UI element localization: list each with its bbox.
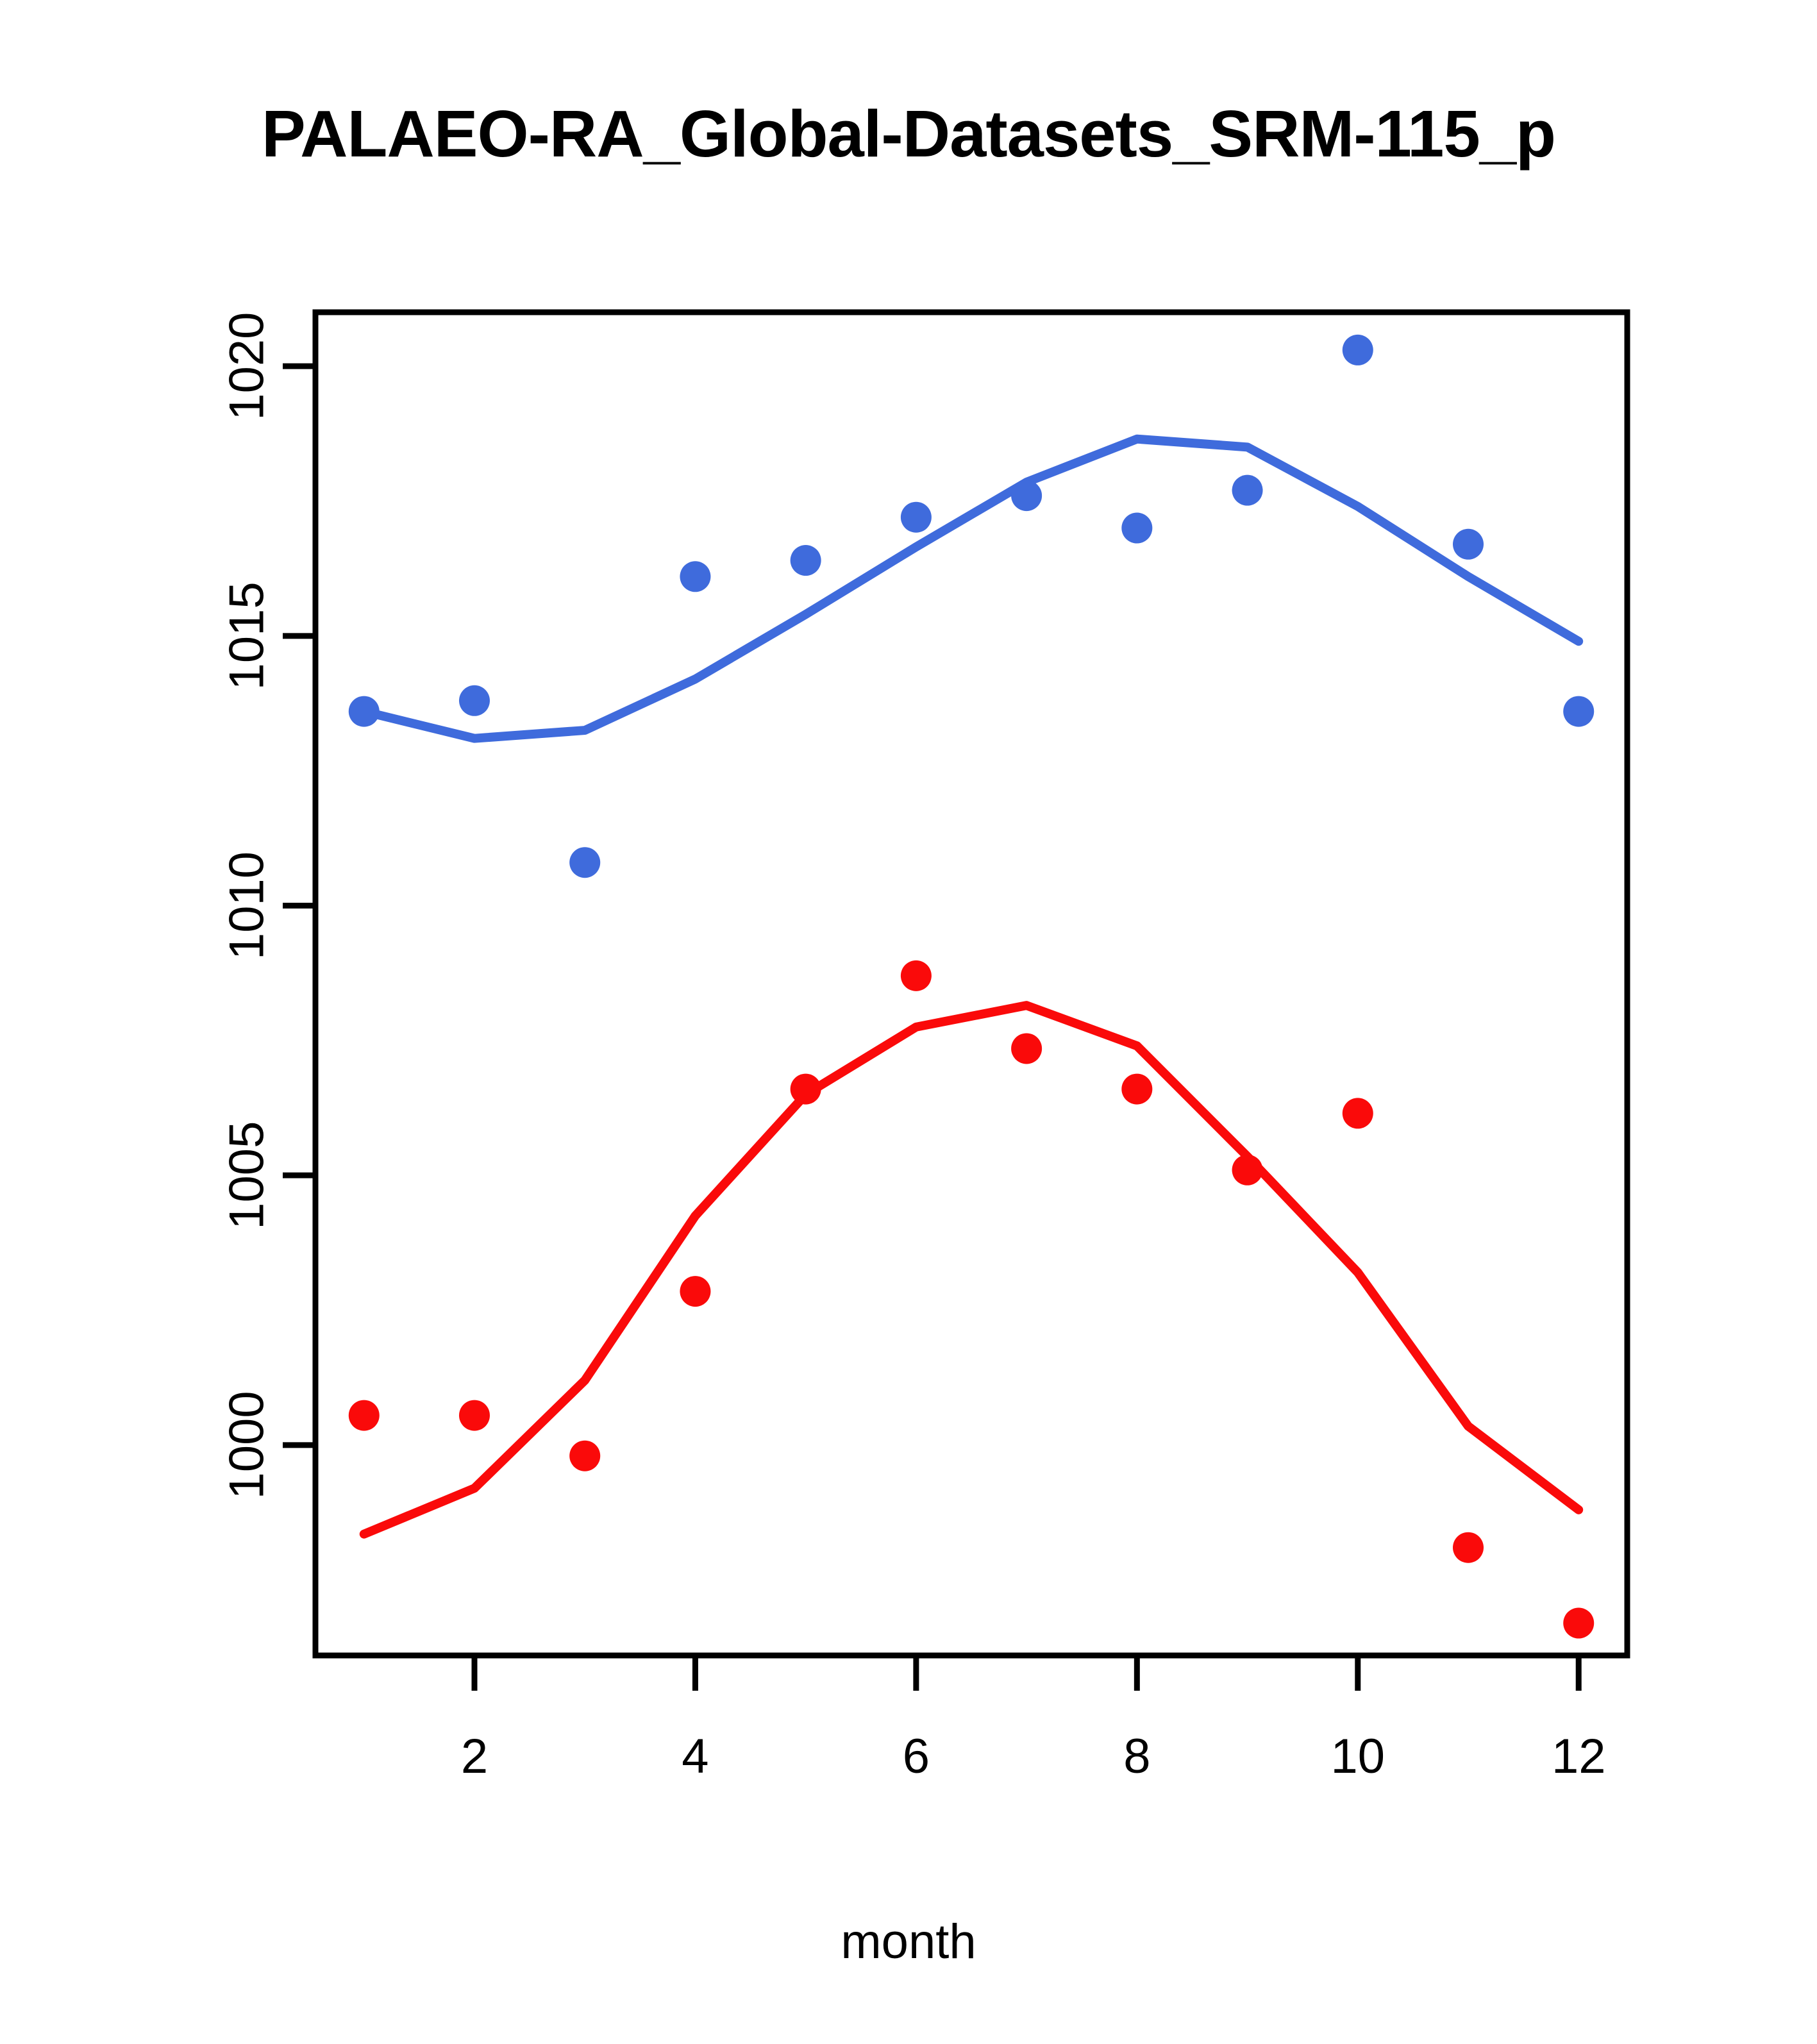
series-lines (364, 439, 1578, 1534)
y-tick-label: 1005 (220, 1121, 274, 1230)
data-point (680, 561, 710, 592)
data-point (1121, 1074, 1152, 1105)
y-tick-label: 1000 (220, 1391, 274, 1499)
data-point (1232, 475, 1263, 506)
data-point (459, 1400, 490, 1431)
series-line-red-line (364, 1005, 1578, 1534)
x-tick-label: 10 (1331, 1729, 1386, 1784)
data-point (1121, 513, 1152, 544)
x-tick-label: 6 (903, 1729, 930, 1784)
y-tick-label: 1020 (220, 312, 274, 421)
y-tick-label: 1010 (220, 851, 274, 960)
data-point (459, 685, 490, 716)
data-point (901, 960, 932, 991)
x-tick-label: 8 (1123, 1729, 1150, 1784)
data-point (569, 847, 600, 878)
data-point (1232, 1155, 1263, 1185)
x-axis-label: month (0, 1914, 1817, 1970)
plot-area: 10001005101010151020 24681012 (0, 0, 1817, 2044)
data-point (1343, 1098, 1373, 1128)
data-point (1563, 696, 1594, 727)
x-tick-label: 12 (1552, 1729, 1606, 1784)
data-point (1453, 529, 1484, 560)
x-tick-label: 2 (461, 1729, 488, 1784)
data-point (569, 1441, 600, 1471)
x-axis-tick-labels: 24681012 (461, 1729, 1606, 1784)
chart-figure: PALAEO-RA_Global-Datasets_SRM-115_p 1000… (0, 0, 1817, 2044)
x-axis-ticks (474, 1655, 1578, 1691)
data-point (901, 502, 932, 533)
data-point (1563, 1608, 1594, 1639)
data-point (1011, 1033, 1042, 1064)
y-axis-tick-labels: 10001005101010151020 (220, 312, 274, 1500)
x-tick-label: 4 (682, 1729, 708, 1784)
data-point (349, 1400, 380, 1431)
series-points (349, 335, 1594, 1639)
y-axis-ticks (283, 366, 315, 1445)
data-point (680, 1276, 710, 1307)
data-point (791, 1074, 821, 1105)
data-point (1011, 480, 1042, 511)
y-tick-label: 1015 (220, 582, 274, 690)
data-point (791, 545, 821, 576)
data-point (1453, 1532, 1484, 1563)
data-point (1343, 335, 1373, 365)
data-point (349, 696, 380, 727)
series-line-blue-line (364, 439, 1578, 739)
